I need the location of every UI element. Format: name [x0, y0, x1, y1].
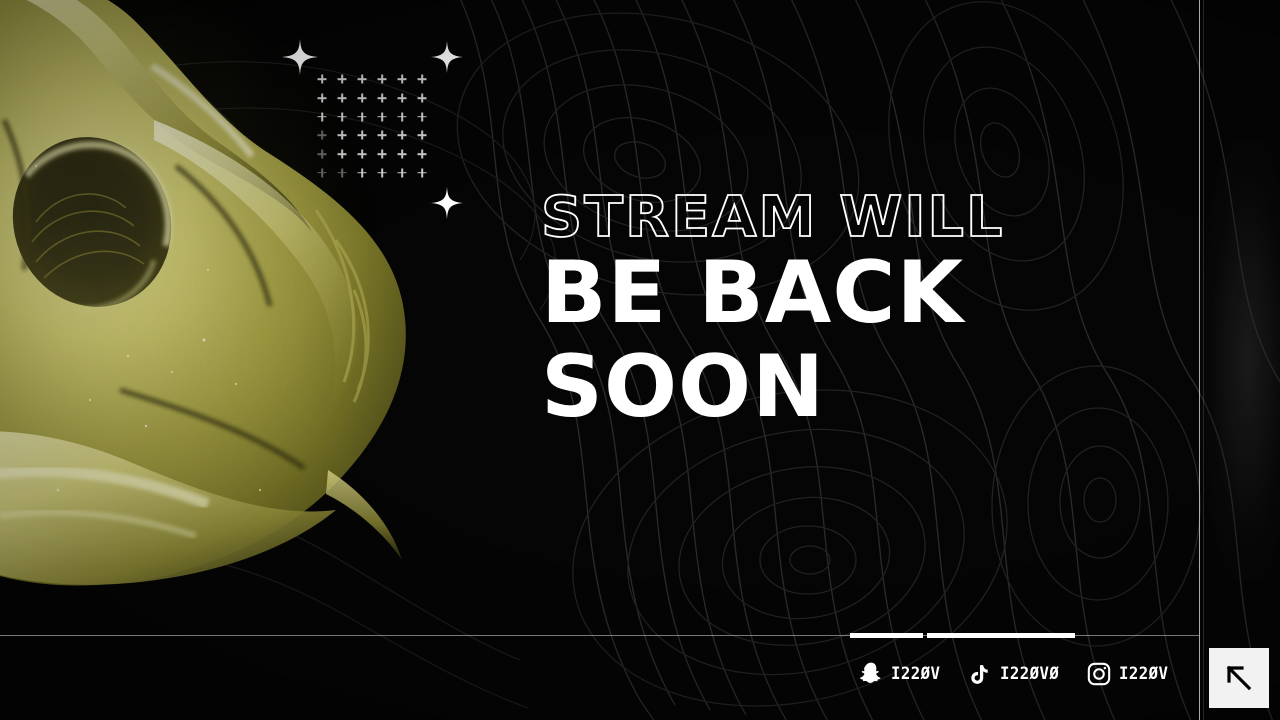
plus-mark [412, 107, 432, 126]
plus-mark [332, 107, 352, 126]
plus-mark [372, 163, 392, 182]
plus-mark [312, 107, 332, 126]
plus-mark [312, 126, 332, 145]
plus-mark [372, 89, 392, 108]
headline-block: STREAM WILL BE BACK SOON [541, 186, 1097, 436]
artwork-glow [0, 10, 360, 570]
plus-mark [372, 70, 392, 89]
plus-mark [332, 89, 352, 108]
headline-line-2-svg: BE BACK [541, 248, 1097, 340]
plus-mark [412, 89, 432, 108]
headline-line-3: SOON [541, 340, 1097, 436]
social-item-instagram[interactable]: I22ØV [1086, 661, 1173, 687]
plus-mark [392, 163, 412, 182]
tiktok-note-icon [967, 661, 993, 687]
plus-mark [412, 70, 432, 89]
sparkle-star-icon [430, 186, 464, 220]
social-item-snapchat[interactable]: I22ØV [858, 661, 945, 687]
plus-mark [372, 145, 392, 164]
plus-grid-decoration [312, 70, 432, 182]
plus-mark [392, 70, 412, 89]
expand-corner-button[interactable] [1209, 648, 1269, 708]
plus-mark [332, 70, 352, 89]
plus-mark [392, 89, 412, 108]
right-vertical-divider [1199, 0, 1200, 720]
plus-mark [392, 107, 412, 126]
plus-mark [352, 70, 372, 89]
snapchat-ghost-icon [858, 661, 884, 687]
social-item-tiktok[interactable]: I22ØVØ [967, 661, 1064, 687]
right-vertical-divider-secondary [1203, 0, 1204, 720]
stream-offline-screen: STREAM WILL BE BACK SOON I22ØV [0, 0, 1280, 720]
plus-mark [332, 126, 352, 145]
plus-mark [352, 89, 372, 108]
headline-line-1-svg: STREAM WILL [541, 186, 1097, 248]
plus-mark [392, 145, 412, 164]
headline-line-2-text: BE BACK [541, 248, 966, 340]
plus-mark [352, 107, 372, 126]
arrow-up-left-icon [1223, 662, 1255, 694]
headline-line-2: BE BACK [541, 248, 1097, 340]
plus-mark [412, 145, 432, 164]
social-links-bar: I22ØV I22ØVØ I22ØV [858, 655, 1195, 693]
plus-mark [352, 163, 372, 182]
headline-line-1: STREAM WILL [541, 186, 1097, 248]
plus-mark [332, 145, 352, 164]
plus-mark [312, 163, 332, 182]
plus-mark [332, 163, 352, 182]
social-handle-snapchat: I22ØV [891, 664, 940, 684]
plus-mark [312, 89, 332, 108]
progress-segment-1[interactable] [850, 633, 923, 638]
headline-line-3-text: SOON [541, 340, 825, 436]
sparkle-star-icon [430, 40, 464, 74]
plus-mark [312, 70, 332, 89]
headline-line-1-text: STREAM WILL [541, 186, 1004, 248]
plus-mark [372, 126, 392, 145]
progress-segment-2[interactable] [927, 633, 1075, 638]
plus-mark [412, 163, 432, 182]
social-handle-instagram: I22ØV [1119, 664, 1168, 684]
right-panel-ghost-shape [1199, 140, 1280, 580]
headline-line-3-svg: SOON [541, 340, 1097, 436]
plus-mark [412, 126, 432, 145]
plus-mark [352, 145, 372, 164]
plus-mark [352, 126, 372, 145]
plus-mark [392, 126, 412, 145]
plus-mark [312, 145, 332, 164]
social-handle-tiktok: I22ØVØ [1000, 664, 1059, 684]
instagram-camera-icon [1086, 661, 1112, 687]
plus-mark [372, 107, 392, 126]
